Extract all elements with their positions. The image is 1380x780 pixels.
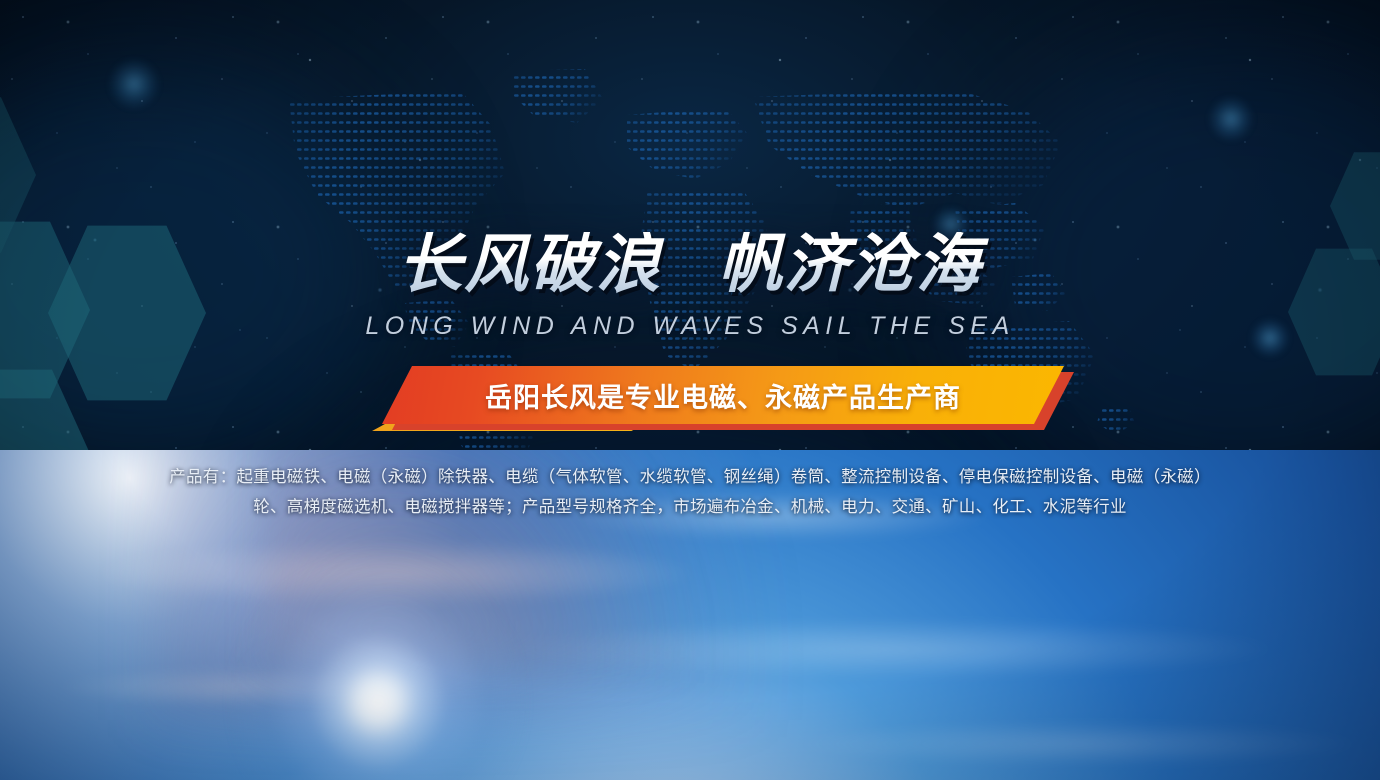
headline-right: 帆济沧海 <box>718 228 982 300</box>
ribbon-banner: 岳阳长风是专业电磁、永磁产品生产商 <box>382 366 1064 424</box>
ribbon-group: 岳阳长风是专业电磁、永磁产品生产商 <box>0 362 1380 440</box>
headline-left: 长风破浪 <box>398 228 662 300</box>
subheadline: LONG WIND AND WAVES SAIL THE SEA <box>0 312 1380 341</box>
ribbon-label: 岳阳长风是专业电磁、永磁产品生产商 <box>485 376 961 415</box>
headline: 长风破浪帆济沧海 <box>0 232 1380 296</box>
body-copy-line-2: 轮、高梯度磁选机、电磁搅拌器等；产品型号规格齐全，市场遍布冶金、机械、电力、交通… <box>0 492 1380 522</box>
hero-banner: 长风破浪帆济沧海 LONG WIND AND WAVES SAIL THE SE… <box>0 0 1380 780</box>
body-copy: 产品有：起重电磁铁、电磁（永磁）除铁器、电缆（气体软管、水缆软管、钢丝绳）卷筒、… <box>0 462 1380 522</box>
banner-content: 长风破浪帆济沧海 LONG WIND AND WAVES SAIL THE SE… <box>0 0 1380 780</box>
body-copy-line-1: 产品有：起重电磁铁、电磁（永磁）除铁器、电缆（气体软管、水缆软管、钢丝绳）卷筒、… <box>0 462 1380 492</box>
